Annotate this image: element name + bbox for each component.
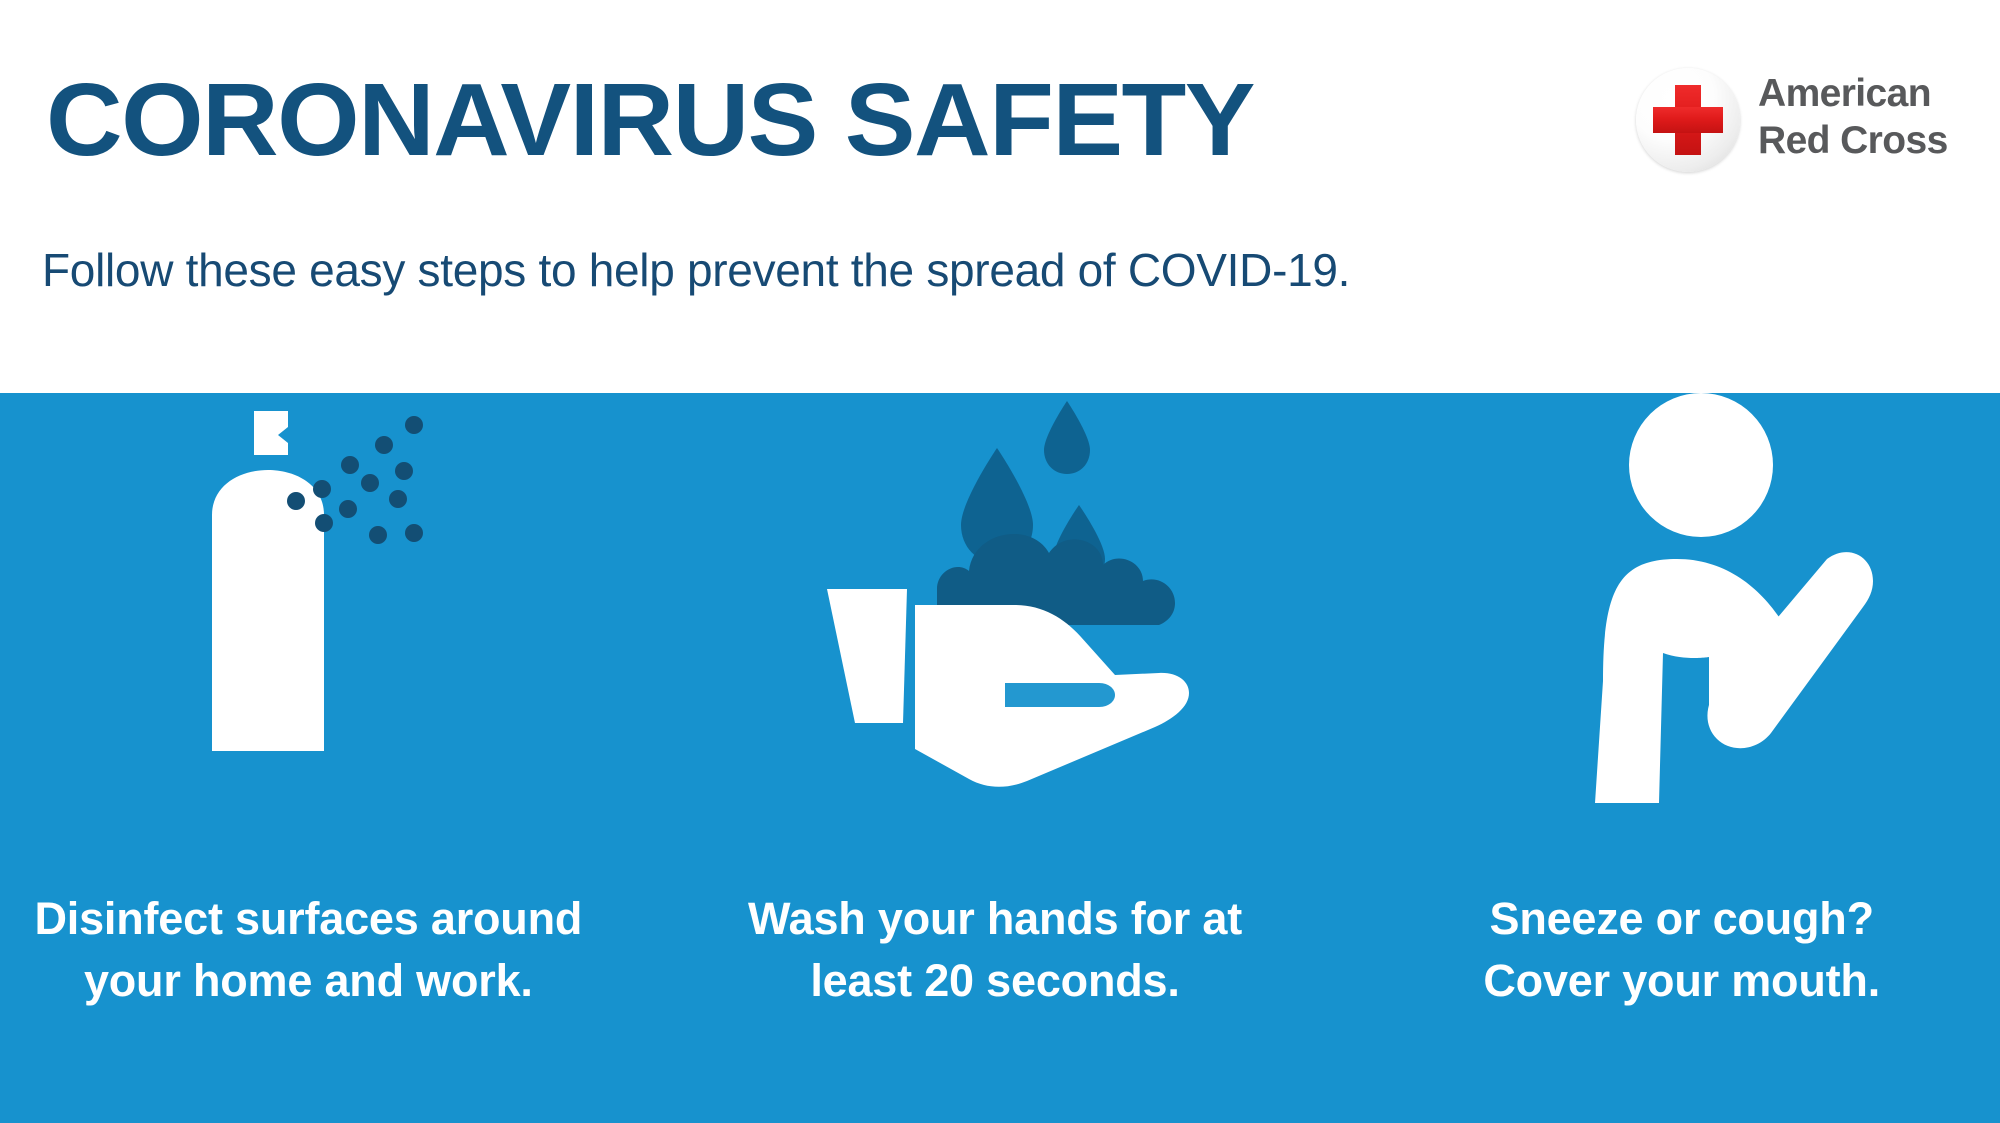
washing-hands-icon	[819, 393, 1199, 833]
person-head	[1629, 393, 1773, 537]
american-red-cross-logo: American Red Cross	[1636, 62, 1986, 180]
step-cover-mouth: Sneeze or cough? Cover your mouth.	[1333, 393, 2000, 1123]
caption-line-1: Disinfect surfaces around	[20, 888, 597, 950]
step-disinfect-surfaces: Disinfect surfaces around your home and …	[0, 393, 667, 1123]
spray-can-icon-wrap	[0, 393, 667, 883]
page-title: CORONAVIRUS SAFETY	[46, 68, 1254, 171]
caption-line-2: least 20 seconds.	[707, 950, 1284, 1012]
steps-panel: Disinfect surfaces around your home and …	[0, 393, 2000, 1123]
logo-wordmark: American Red Cross	[1758, 70, 1948, 164]
caption-wash-hands: Wash your hands for at least 20 seconds.	[667, 888, 1334, 1012]
caption-line-2: your home and work.	[20, 950, 597, 1012]
page-subtitle: Follow these easy steps to help prevent …	[42, 244, 1350, 297]
cough-into-elbow-icon	[1595, 393, 1895, 813]
spray-can-icon	[192, 393, 482, 813]
sleeve-cuff	[827, 589, 907, 723]
water-drop-small-top	[1044, 401, 1090, 474]
caption-disinfect-surfaces: Disinfect surfaces around your home and …	[0, 888, 667, 1012]
red-cross-icon	[1636, 68, 1740, 172]
steps-columns: Disinfect surfaces around your home and …	[0, 393, 2000, 1123]
washing-hands-icon-wrap	[667, 393, 1334, 883]
cross-horizontal-bar	[1653, 107, 1723, 133]
header-band: CORONAVIRUS SAFETY Follow these easy ste…	[0, 0, 2000, 393]
caption-cover-mouth: Sneeze or cough? Cover your mouth.	[1333, 888, 2000, 1012]
step-wash-hands: Wash your hands for at least 20 seconds.	[667, 393, 1334, 1123]
cough-into-elbow-icon-wrap	[1333, 393, 2000, 883]
thumb-crease	[1005, 683, 1115, 707]
logo-line-2: Red Cross	[1758, 117, 1948, 164]
logo-line-1: American	[1758, 70, 1948, 117]
caption-line-1: Sneeze or cough?	[1393, 888, 1970, 950]
coronavirus-safety-poster: CORONAVIRUS SAFETY Follow these easy ste…	[0, 0, 2000, 1123]
caption-line-1: Wash your hands for at	[707, 888, 1284, 950]
caption-line-2: Cover your mouth.	[1393, 950, 1970, 1012]
